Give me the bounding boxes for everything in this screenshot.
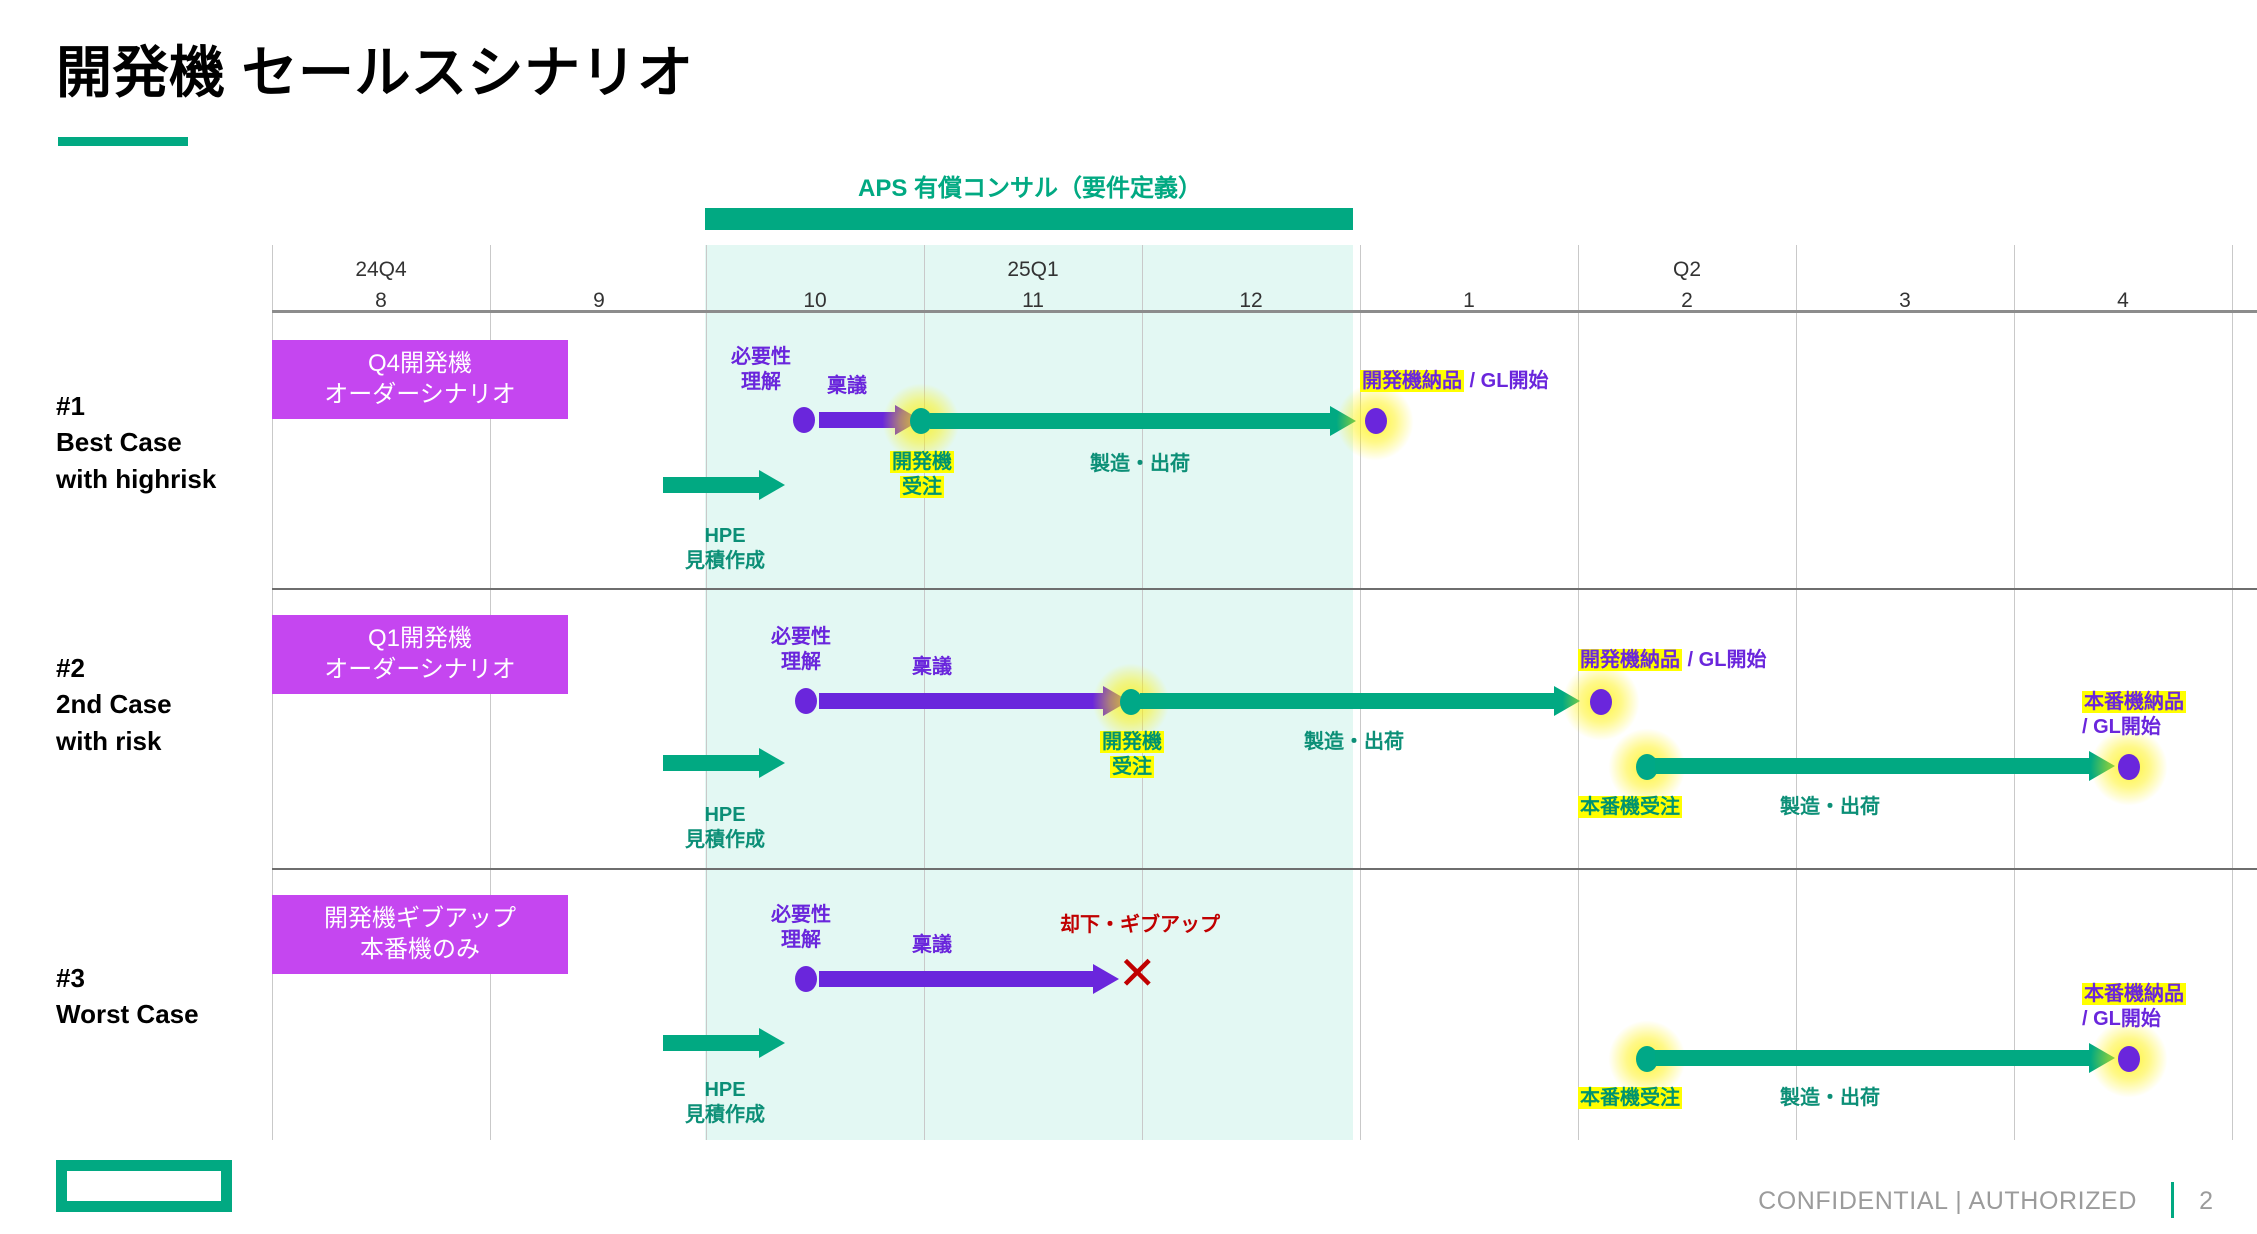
hpe-quote-label-1-line1: HPE xyxy=(645,524,805,549)
ringi-label-1: 稟議 xyxy=(827,374,867,399)
hpe-quote-label-2: HPE 見積作成 xyxy=(645,803,805,853)
column-quarter-label: Q2 xyxy=(1578,258,1796,282)
arrow-shaft xyxy=(819,971,1093,987)
row-label-2-line1: #2 xyxy=(56,650,172,686)
hpe-quote-label-3-line1: HPE xyxy=(645,1078,805,1103)
scenario-box-1[interactable]: Q4開発機 オーダーシナリオ xyxy=(272,340,568,419)
row-label-3-line2: Worst Case xyxy=(56,996,199,1032)
manufacture-arrow-2 xyxy=(1140,686,1580,716)
scenario-box-1-line2: オーダーシナリオ xyxy=(282,380,558,411)
row-label-1-line3: with highrisk xyxy=(56,461,216,497)
scenario-box-2[interactable]: Q1開発機 オーダーシナリオ xyxy=(272,615,568,694)
timeline-axis-line xyxy=(272,310,2257,313)
grid-line xyxy=(2232,245,2233,1140)
order-label-1-line2: 受注 xyxy=(900,476,944,498)
hpe-quote-label-2-line2: 見積作成 xyxy=(645,828,805,853)
ringi-label-2: 稟議 xyxy=(912,655,952,680)
prod-order-label-3: 本番機受注 xyxy=(1578,1086,1682,1111)
arrow-shaft xyxy=(663,477,759,493)
order-label-2: 開発機 受注 xyxy=(1070,730,1194,780)
manufacture-label-1: 製造・出荷 xyxy=(1010,452,1270,477)
row-label-1-line1: #1 xyxy=(56,388,216,424)
row-separator xyxy=(272,588,2257,590)
page-title-bold: 開発機 xyxy=(56,41,226,104)
order-label-1-line1: 開発機 xyxy=(890,451,954,473)
row-label-1: #1 Best Case with highrisk xyxy=(56,388,216,497)
grid-line xyxy=(2014,245,2015,1140)
confidentiality-notice: CONFIDENTIAL | AUTHORIZED xyxy=(1758,1187,2137,1216)
arrow-head xyxy=(759,470,785,500)
necessity-label-3-line2: 理解 xyxy=(742,928,860,953)
reject-x-icon: ✕ xyxy=(1118,950,1157,996)
hpe-quote-label-1-line2: 見積作成 xyxy=(645,549,805,574)
delivery-label-1-rest: / GL開始 xyxy=(1464,370,1548,392)
aps-consulting-label: APS 有償コンサル（要件定義） xyxy=(705,168,1355,203)
arrow-head xyxy=(1093,964,1119,994)
delivery-dot-1 xyxy=(1365,408,1387,434)
prod-delivery-label-3: 本番機納品 / GL開始 xyxy=(2082,982,2186,1032)
row-label-2-line2: 2nd Case xyxy=(56,686,172,722)
necessity-label-3-line1: 必要性 xyxy=(742,903,860,928)
necessity-label-2-line1: 必要性 xyxy=(742,625,860,650)
page-title-rest: セールスシナリオ xyxy=(226,41,694,104)
arrow-shaft xyxy=(1655,1050,2089,1066)
delivery-label-1-highlight: 開発機納品 xyxy=(1360,370,1464,392)
row-label-1-line2: Best Case xyxy=(56,424,216,460)
scenario-box-3-line2: 本番機のみ xyxy=(282,935,558,966)
ringi-label-3: 稟議 xyxy=(912,933,952,958)
hpe-quote-arrow-3 xyxy=(663,1028,785,1058)
arrow-shaft xyxy=(663,1035,759,1051)
grid-line xyxy=(1796,245,1797,1140)
column-quarter-label: 24Q4 xyxy=(272,258,490,282)
delivery-dot-2 xyxy=(1590,689,1612,715)
scenario-box-3[interactable]: 開発機ギブアップ 本番機のみ xyxy=(272,895,568,974)
necessity-label-1: 必要性 理解 xyxy=(702,345,820,395)
row-label-2-line3: with risk xyxy=(56,723,172,759)
prod-delivery-dot-2 xyxy=(2118,754,2140,780)
reject-label-3: 却下・ギブアップ xyxy=(1040,913,1240,938)
prod-delivery-label-2-rest: / GL開始 xyxy=(2082,716,2161,738)
prod-delivery-label-2-highlight: 本番機納品 xyxy=(2082,691,2186,713)
prod-manufacture-arrow-3 xyxy=(1655,1043,2115,1073)
order-dot-1 xyxy=(910,408,932,434)
necessity-label-1-line1: 必要性 xyxy=(702,345,820,370)
necessity-label-2-line2: 理解 xyxy=(742,650,860,675)
order-label-1: 開発機 受注 xyxy=(860,450,984,500)
delivery-label-2-highlight: 開発機納品 xyxy=(1578,649,1682,671)
manufacture-label-2: 製造・出荷 xyxy=(1224,730,1484,755)
column-quarter-label: 25Q1 xyxy=(924,258,1142,282)
scenario-box-1-line1: Q4開発機 xyxy=(282,349,558,380)
delivery-label-2: 開発機納品 / GL開始 xyxy=(1578,648,1766,673)
hpe-quote-label-3-line2: 見積作成 xyxy=(645,1103,805,1128)
title-underline-rule xyxy=(58,137,188,146)
necessity-label-2: 必要性 理解 xyxy=(742,625,860,675)
scenario-box-2-line1: Q1開発機 xyxy=(282,624,558,655)
prod-delivery-label-3-highlight: 本番機納品 xyxy=(2082,983,2186,1005)
prod-manufacture-arrow-2 xyxy=(1655,751,2115,781)
order-dot-2 xyxy=(1120,689,1142,715)
prod-manufacture-label-3: 製造・出荷 xyxy=(1700,1086,1960,1111)
prod-delivery-label-3-rest: / GL開始 xyxy=(2082,1008,2161,1030)
hpe-logo xyxy=(56,1160,232,1212)
hpe-quote-label-3: HPE 見積作成 xyxy=(645,1078,805,1128)
row-label-3: #3 Worst Case xyxy=(56,960,199,1033)
hpe-quote-arrow-2 xyxy=(663,748,785,778)
prod-manufacture-label-2: 製造・出荷 xyxy=(1700,795,1960,820)
prod-order-label-2-text: 本番機受注 xyxy=(1578,796,1682,818)
delivery-label-1: 開発機納品 / GL開始 xyxy=(1360,369,1548,394)
necessity-dot-2 xyxy=(795,688,817,714)
order-label-2-line1: 開発機 xyxy=(1100,731,1164,753)
ringi-arrow-3 xyxy=(819,964,1119,994)
arrow-head xyxy=(759,748,785,778)
arrow-shaft xyxy=(930,413,1330,429)
row-label-2: #2 2nd Case with risk xyxy=(56,650,172,759)
page-number: 2 xyxy=(2199,1187,2213,1216)
necessity-label-1-line2: 理解 xyxy=(702,370,820,395)
arrow-head xyxy=(759,1028,785,1058)
scenario-box-2-line2: オーダーシナリオ xyxy=(282,655,558,686)
ringi-arrow-2 xyxy=(819,686,1129,716)
page-title: 開発機 セールスシナリオ xyxy=(56,28,694,109)
arrow-shaft xyxy=(819,693,1103,709)
necessity-dot-3 xyxy=(795,966,817,992)
manufacture-arrow-1 xyxy=(930,406,1356,436)
footer-divider xyxy=(2171,1182,2174,1218)
row-label-3-line1: #3 xyxy=(56,960,199,996)
prod-delivery-label-2: 本番機納品 / GL開始 xyxy=(2082,690,2186,740)
prod-delivery-dot-3 xyxy=(2118,1046,2140,1072)
delivery-label-2-rest: / GL開始 xyxy=(1682,649,1766,671)
row-separator xyxy=(272,868,2257,870)
slide-canvas: 開発機 セールスシナリオ APS 有償コンサル（要件定義） 24Q4 8 9 1… xyxy=(0,0,2257,1234)
hpe-quote-label-1: HPE 見積作成 xyxy=(645,524,805,574)
necessity-label-3: 必要性 理解 xyxy=(742,903,860,953)
arrow-shaft xyxy=(663,755,759,771)
necessity-dot-1 xyxy=(793,407,815,433)
aps-consulting-bar xyxy=(705,208,1353,230)
prod-order-label-2: 本番機受注 xyxy=(1578,795,1682,820)
order-label-2-line2: 受注 xyxy=(1110,756,1154,778)
arrow-shaft xyxy=(1655,758,2089,774)
prod-order-label-3-text: 本番機受注 xyxy=(1578,1087,1682,1109)
hpe-quote-label-2-line1: HPE xyxy=(645,803,805,828)
scenario-box-3-line1: 開発機ギブアップ xyxy=(282,904,558,935)
arrow-shaft xyxy=(1140,693,1554,709)
hpe-quote-arrow-1 xyxy=(663,470,785,500)
